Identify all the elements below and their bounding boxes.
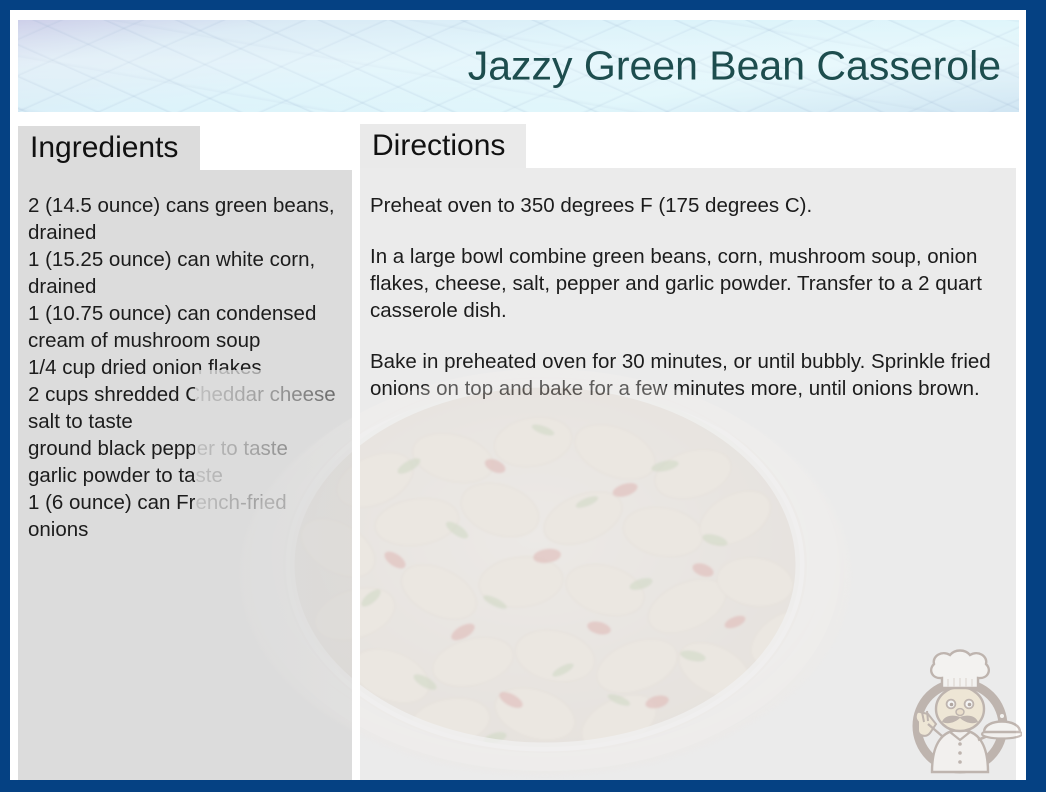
page-title: Jazzy Green Bean Casserole [468,43,1001,90]
directions-panel: Preheat oven to 350 degrees F (175 degre… [360,168,1016,780]
list-item: drained [28,273,342,300]
list-item: 1 (10.75 ounce) can condensed [28,300,342,327]
tab-directions[interactable]: Directions [360,124,526,168]
list-item: salt to taste [28,408,342,435]
list-item: 2 (14.5 ounce) cans green beans, [28,192,342,219]
list-item: garlic powder to taste [28,462,342,489]
direction-step: Bake in preheated oven for 30 minutes, o… [370,348,996,402]
panel-gutter [352,170,360,780]
ingredients-panel: 2 (14.5 ounce) cans green beans, drained… [18,170,352,780]
title-banner: Jazzy Green Bean Casserole [18,20,1019,112]
list-item: 1/4 cup dried onion flakes [28,354,342,381]
tab-ingredients[interactable]: Ingredients [18,126,200,170]
frame-border-top [0,0,1046,10]
frame-border-right [1026,0,1046,792]
ingredients-list: 2 (14.5 ounce) cans green beans, drained… [18,170,352,543]
recipe-card-slide: Jazzy Green Bean Casserole Ingredients D… [0,0,1046,792]
list-item: cream of mushroom soup [28,327,342,354]
frame-border-bottom [0,780,1046,792]
direction-step: Preheat oven to 350 degrees F (175 degre… [370,192,996,219]
ingredients-heading: Ingredients [30,133,178,163]
directions-body: Preheat oven to 350 degrees F (175 degre… [360,168,1016,402]
frame-border-left [0,0,10,792]
list-item: 1 (15.25 ounce) can white corn, [28,246,342,273]
list-item: onions [28,516,342,543]
list-item: 1 (6 ounce) can French-fried [28,489,342,516]
list-item: drained [28,219,342,246]
list-item: ground black pepper to taste [28,435,342,462]
directions-heading: Directions [372,131,505,161]
list-item: 2 cups shredded Cheddar cheese [28,381,342,408]
direction-step: In a large bowl combine green beans, cor… [370,243,996,324]
